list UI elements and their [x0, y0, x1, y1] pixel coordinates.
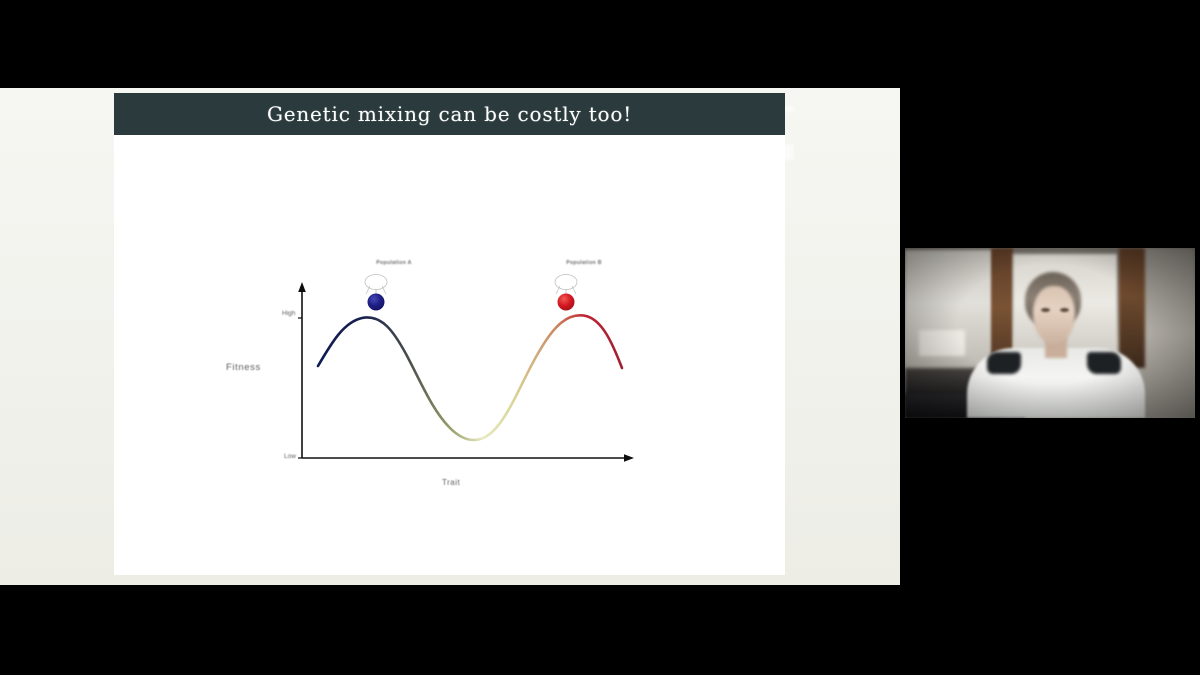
shared-slide[interactable]: Genetic mixing can be costly too! Popula… [0, 88, 900, 585]
page-title: Genetic mixing can be costly too! [267, 102, 632, 126]
population-marker-right[interactable] [558, 294, 575, 311]
fitness-curve [318, 315, 622, 440]
video-vignette [905, 248, 1195, 418]
figure-axes [298, 282, 634, 462]
slide-surface: Genetic mixing can be costly too! Popula… [0, 88, 900, 585]
slide-artifact [784, 144, 794, 160]
video-call-stage: Genetic mixing can be costly too! Popula… [0, 0, 1200, 675]
fitness-landscape-figure: Population A Population B [244, 250, 664, 510]
y-tick-high: High [282, 310, 295, 317]
slide-content-board: Population A Population B [114, 135, 785, 575]
peak-label-right: Population B [566, 260, 602, 266]
y-tick-low: Low [284, 453, 296, 460]
organism-icon-right [555, 275, 577, 296]
y-axis-label: Fitness [226, 362, 261, 373]
speaker-video-tile[interactable] [905, 248, 1195, 418]
organism-icon-left [365, 275, 387, 296]
x-axis-label: Trait [442, 478, 460, 487]
population-marker-left[interactable] [368, 294, 385, 311]
slide-title-bar: Genetic mixing can be costly too! [114, 93, 785, 135]
fitness-landscape-svg [244, 250, 664, 510]
peak-label-left: Population A [376, 260, 411, 266]
